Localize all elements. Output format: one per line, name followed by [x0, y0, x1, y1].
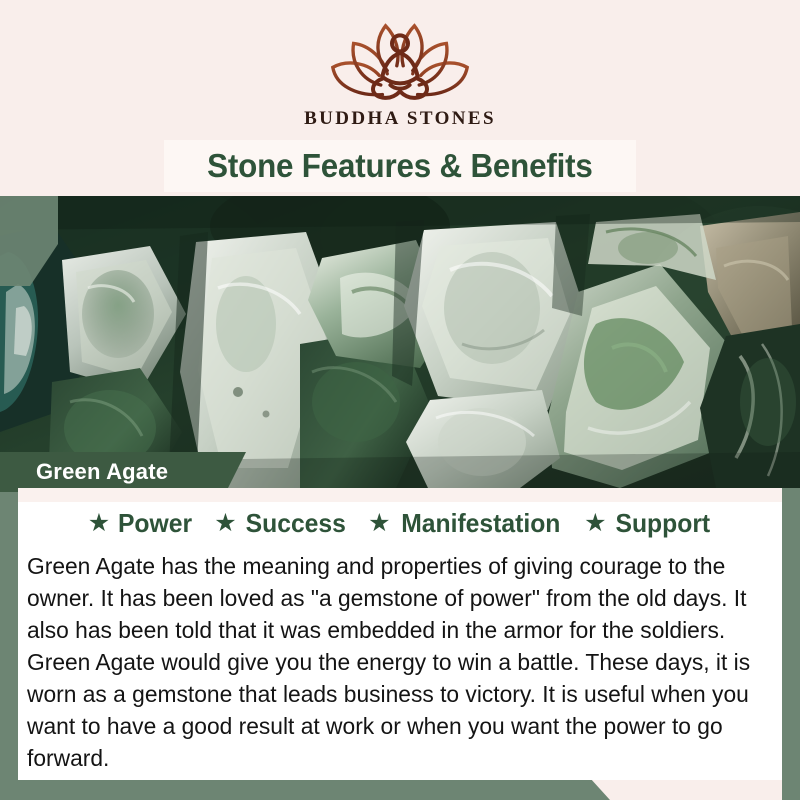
stone-info-poster: BUDDHA STONES Stone Features & Benefits [0, 0, 800, 800]
stone-name-banner: Green Agate [0, 452, 246, 492]
poster-header: BUDDHA STONES Stone Features & Benefits [0, 0, 800, 196]
page-title: Stone Features & Benefits [207, 147, 592, 185]
stone-name: Green Agate [36, 459, 168, 485]
stone-photo-illustration [0, 196, 800, 488]
feature-label: Power [118, 508, 192, 539]
feature-item-success: ★ Success [214, 508, 348, 539]
star-icon: ★ [88, 511, 110, 536]
title-banner: Stone Features & Benefits [164, 140, 636, 192]
star-icon: ★ [368, 511, 390, 536]
description-panel: ★ Power ★ Success ★ Manifestation ★ Supp… [18, 488, 782, 780]
feature-label: Support [615, 508, 710, 539]
sage-bottom-accent-bar [0, 778, 800, 800]
star-icon: ★ [584, 511, 606, 536]
feature-item-power: ★ Power [88, 508, 194, 539]
feature-item-manifestation: ★ Manifestation [368, 508, 564, 539]
panel-top-tint [18, 488, 782, 502]
feature-list: ★ Power ★ Success ★ Manifestation ★ Supp… [18, 508, 782, 539]
lotus-meditation-figure-icon [320, 16, 480, 106]
star-icon: ★ [214, 511, 236, 536]
feature-label: Manifestation [401, 508, 560, 539]
description-text: Green Agate has the meaning and properti… [27, 550, 751, 774]
green-agate-photo [0, 196, 800, 488]
brand-logo: BUDDHA STONES [0, 16, 800, 130]
feature-item-support: ★ Support [584, 508, 712, 539]
brand-name: BUDDHA STONES [304, 108, 496, 130]
feature-label: Success [245, 508, 345, 539]
